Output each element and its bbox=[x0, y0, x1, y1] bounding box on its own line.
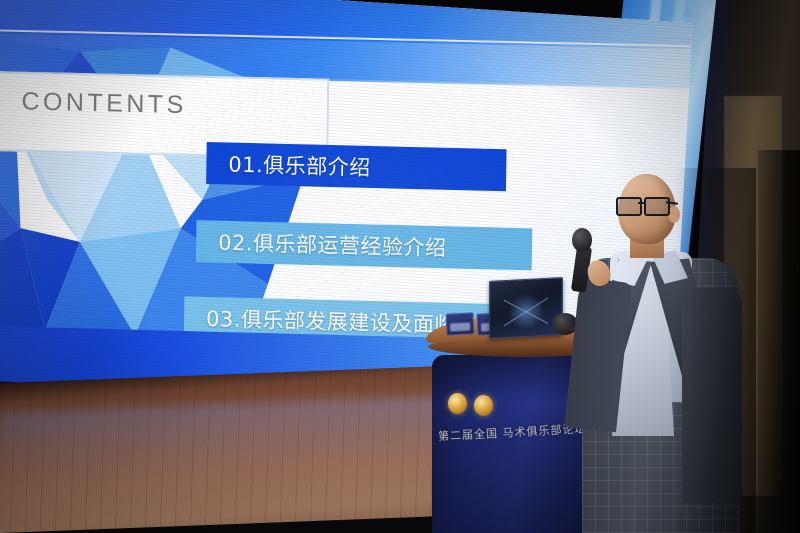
handheld-microphone-icon bbox=[572, 228, 592, 252]
gold-emblem-icon bbox=[448, 393, 467, 414]
laptop-screen-art bbox=[504, 291, 548, 329]
glasses-icon bbox=[616, 197, 672, 212]
gold-emblem-icon bbox=[474, 395, 493, 416]
agenda-item-2: 02.俱乐部运营经验介绍 bbox=[196, 220, 532, 270]
speaker-arm-right bbox=[682, 288, 742, 503]
agenda-item-1: 01.俱乐部介绍 bbox=[206, 142, 506, 191]
page-title: CONTENTS bbox=[21, 87, 187, 120]
wall-shadow bbox=[758, 150, 800, 533]
screenshot-root: CONTENTS 01.俱乐部介绍 02.俱乐部运营经验介绍 03.俱乐部发展建… bbox=[0, 0, 800, 533]
name-card bbox=[445, 312, 474, 335]
laptop bbox=[489, 277, 563, 339]
speaker-person bbox=[566, 168, 756, 533]
